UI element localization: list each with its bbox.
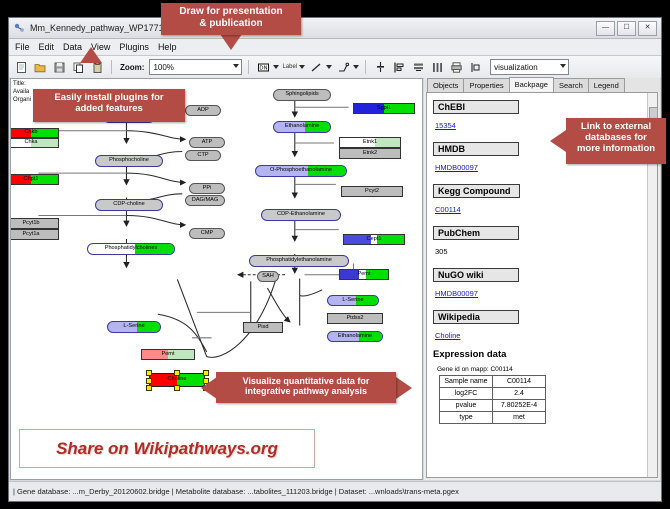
zoom-combo[interactable]: 100% xyxy=(149,59,242,75)
zoom-label: Zoom: xyxy=(120,63,144,72)
interaction-tool[interactable] xyxy=(335,59,359,75)
callout-share: Share on Wikipathways.org xyxy=(19,429,315,468)
gene-pisd[interactable]: Pisd xyxy=(243,322,283,333)
toolbar-separator-2 xyxy=(248,60,249,74)
datanode-icon[interactable]: DN xyxy=(255,59,271,75)
gene-etnk2[interactable]: Etnk2 xyxy=(339,148,401,159)
label-tool[interactable]: Label xyxy=(282,64,305,70)
node-phosphatidylcholines[interactable]: Phosphatidylcholines xyxy=(87,243,175,255)
callout-link-line3: more information xyxy=(566,144,666,155)
node-l-serine-right[interactable]: L-Serine xyxy=(327,295,379,306)
pathvisio-icon xyxy=(13,22,25,34)
chevron-down-icon xyxy=(560,64,566,68)
node-ethanolamine-top[interactable]: Ethanolamine xyxy=(273,121,331,133)
callout-visualize-line2: integrative pathway analysis xyxy=(216,386,396,396)
interaction-icon[interactable] xyxy=(335,59,351,75)
menu-help[interactable]: Help xyxy=(158,42,177,52)
node-cmp[interactable]: CMP xyxy=(189,228,225,239)
resize-handle-nw[interactable] xyxy=(146,370,152,376)
stack-icon[interactable] xyxy=(410,59,426,75)
chevron-down-icon[interactable] xyxy=(273,65,279,69)
node-sah[interactable]: SAH xyxy=(257,271,279,282)
gene-cept1[interactable]: Cept1 xyxy=(343,234,405,245)
line-icon[interactable] xyxy=(308,59,324,75)
chevron-down-icon[interactable] xyxy=(299,65,305,69)
tab-backpage[interactable]: Backpage xyxy=(509,77,554,92)
status-bar: | Gene database: ...m_Derby_20120602.bri… xyxy=(9,481,661,501)
resize-handle-ne[interactable] xyxy=(203,370,209,376)
pathway-info-header: Title: Availa Organi xyxy=(13,80,31,104)
callout-visualize-arrow-right xyxy=(396,377,412,399)
info-availability-label: Availa xyxy=(13,88,31,96)
node-ctp[interactable]: CTP xyxy=(185,150,221,161)
cell-value-log2fc: 2.4 xyxy=(493,388,546,400)
node-phosphatidylethanolamine[interactable]: Phosphatidylethanolamine xyxy=(249,255,349,267)
cell-label-type: type xyxy=(440,412,493,424)
callout-draw-line1: Draw for presentation xyxy=(161,6,301,18)
resize-handle-s[interactable] xyxy=(174,385,180,391)
db-entry-pubchem: PubChem 305 xyxy=(433,223,647,259)
pathvisio-window: Mm_Kennedy_pathway_WP1771_45176.gpml — ☐… xyxy=(8,17,662,502)
window-controls: — ☐ ✕ xyxy=(596,21,657,36)
node-atp[interactable]: ATP xyxy=(189,137,225,148)
callout-link: Link to external databases for more info… xyxy=(566,118,666,164)
db-link-wikipedia[interactable]: Choline xyxy=(435,331,460,340)
node-adp[interactable]: ADP xyxy=(185,105,221,116)
db-header-wikipedia: Wikipedia xyxy=(433,310,519,324)
resize-handle-w[interactable] xyxy=(146,378,152,384)
maximize-button[interactable]: ☐ xyxy=(617,21,636,36)
close-button[interactable]: ✕ xyxy=(638,21,657,36)
info-title-label: Title: xyxy=(13,80,31,88)
svg-text:DN: DN xyxy=(259,65,267,71)
table-row: pvalue 7.80252E-4 xyxy=(440,400,546,412)
layer-icon[interactable] xyxy=(467,59,483,75)
callout-plugins-line2: added features xyxy=(33,104,185,115)
folder-open-icon[interactable] xyxy=(32,59,48,75)
menu-edit[interactable]: Edit xyxy=(39,42,55,52)
line-tool[interactable] xyxy=(308,59,332,75)
align-left-icon[interactable] xyxy=(391,59,407,75)
info-organism-label: Organi xyxy=(13,96,31,104)
db-value-pubchem: 305 xyxy=(435,247,448,256)
tab-search[interactable]: Search xyxy=(553,78,589,92)
callout-share-text: Share on Wikipathways.org xyxy=(56,439,278,459)
align-icon[interactable] xyxy=(372,59,388,75)
chevron-down-icon[interactable] xyxy=(326,65,332,69)
node-o-phosphoethanolamine[interactable]: O-Phosphoethanolamine xyxy=(255,165,347,177)
db-link-nugo[interactable]: HMDB00097 xyxy=(435,289,478,298)
toolbar-separator-1 xyxy=(111,60,112,74)
db-header-chebi: ChEBI xyxy=(433,100,519,114)
gene-chkb[interactable]: Chkb xyxy=(10,128,59,138)
zoom-value: 100% xyxy=(153,63,173,72)
title-bar: Mm_Kennedy_pathway_WP1771_45176.gpml — ☐… xyxy=(9,18,661,39)
menu-file[interactable]: File xyxy=(15,42,30,52)
pathway-canvas[interactable]: Title: Availa Organi xyxy=(10,78,423,480)
status-bar-text: | Gene database: ...m_Derby_20120602.bri… xyxy=(13,487,459,496)
node-dag-mag[interactable]: DAG/MAG xyxy=(185,195,225,206)
gene-id-on-mapp: Gene id on mapp: C00114 xyxy=(437,366,647,373)
db-link-chebi[interactable]: 15354 xyxy=(435,121,456,130)
label-tool-text: Label xyxy=(282,64,297,70)
node-l-serine-left[interactable]: L-Serine xyxy=(107,321,161,333)
callout-visualize: Visualize quantitative data for integrat… xyxy=(216,372,396,403)
side-panel-tabs: Objects Properties Backpage Search Legen… xyxy=(424,78,660,92)
db-header-pubchem: PubChem xyxy=(433,226,519,240)
node-ethanolamine-bottom[interactable]: Ethanolamine xyxy=(327,331,383,342)
node-cdp-choline[interactable]: CDP-choline xyxy=(95,199,163,211)
db-link-hmdb[interactable]: HMDB00097 xyxy=(435,163,478,172)
db-header-hmdb: HMDB xyxy=(433,142,519,156)
cell-value-sample-name: C00114 xyxy=(493,376,546,388)
cell-value-pvalue: 7.80252E-4 xyxy=(493,400,546,412)
tab-properties[interactable]: Properties xyxy=(463,78,509,92)
menu-plugins[interactable]: Plugins xyxy=(119,42,149,52)
visualization-combo[interactable]: visualization xyxy=(490,59,569,75)
db-link-kegg[interactable]: C00114 xyxy=(435,205,461,214)
cell-value-type: met xyxy=(493,412,546,424)
distribute-icon[interactable] xyxy=(429,59,445,75)
gene-pemt-left[interactable]: Pemt xyxy=(141,349,195,360)
callout-plugins: Easily install plugins for added feature… xyxy=(33,89,185,122)
cell-label-pvalue: pvalue xyxy=(440,400,493,412)
table-row: log2FC 2.4 xyxy=(440,388,546,400)
node-phosphocholine[interactable]: Phosphocholine xyxy=(95,155,163,167)
node-choline-selected-wrap[interactable]: Choline xyxy=(149,373,205,387)
callout-link-arrow xyxy=(550,130,566,152)
table-row: type met xyxy=(440,412,546,424)
new-document-icon[interactable] xyxy=(13,59,29,75)
chevron-down-icon[interactable] xyxy=(353,65,359,69)
callout-plugins-arrow xyxy=(80,47,102,63)
db-entry-wikipedia: Wikipedia Choline xyxy=(433,307,647,343)
tab-objects[interactable]: Objects xyxy=(427,78,464,92)
menu-bar: File Edit Data View Plugins Help xyxy=(9,39,661,56)
gene-chpt1[interactable]: Chpt1 xyxy=(10,174,59,185)
printer-icon[interactable] xyxy=(448,59,464,75)
db-entry-kegg: Kegg Compound C00114 xyxy=(433,181,647,217)
datanode-tool[interactable]: DN xyxy=(255,59,279,75)
node-sphingolipids[interactable]: Sphingolipids xyxy=(273,89,331,101)
table-row: Sample name C00114 xyxy=(440,376,546,388)
callout-visualize-arrow-left xyxy=(201,377,217,399)
floppy-disk-icon[interactable] xyxy=(51,59,67,75)
toolbar: Zoom: 100% DN Label xyxy=(9,56,661,79)
expression-data-table: Sample name C00114 log2FC 2.4 pvalue 7.8… xyxy=(439,375,546,424)
visualization-value: visualization xyxy=(494,63,538,72)
callout-draw-arrow xyxy=(220,34,242,50)
tab-legend[interactable]: Legend xyxy=(588,78,625,92)
toolbar-separator-3 xyxy=(365,60,366,74)
chevron-down-icon xyxy=(233,64,239,68)
node-cdp-ethanolamine[interactable]: CDP-Ethanolamine xyxy=(261,209,341,221)
resize-handle-n[interactable] xyxy=(174,370,180,376)
node-ppi[interactable]: PPi xyxy=(189,183,225,194)
db-header-kegg: Kegg Compound xyxy=(433,184,520,198)
minimize-button[interactable]: — xyxy=(596,21,615,36)
gene-chka[interactable]: Chka xyxy=(10,138,59,148)
resize-handle-sw[interactable] xyxy=(146,385,152,391)
cell-label-log2fc: log2FC xyxy=(440,388,493,400)
gene-pcyt1b[interactable]: Pcyt1b xyxy=(10,218,59,229)
cell-label-sample-name: Sample name xyxy=(440,376,493,388)
db-header-nugo: NuGO wiki xyxy=(433,268,519,282)
expression-data-title: Expression data xyxy=(433,349,647,360)
gene-pemt-right[interactable]: Pemt xyxy=(339,269,389,280)
gene-pcyt1a[interactable]: Pcyt1a xyxy=(10,229,59,240)
gene-ptdss2[interactable]: Ptdss2 xyxy=(327,313,383,324)
callout-draw: Draw for presentation & publication xyxy=(161,3,301,35)
callout-visualize-line1: Visualize quantitative data for xyxy=(216,376,396,386)
callout-draw-line2: & publication xyxy=(161,18,301,30)
gene-sgpl1[interactable]: Sgpl1 xyxy=(353,103,415,114)
gene-pcyt2[interactable]: Pcyt2 xyxy=(341,186,403,197)
gene-etnk1[interactable]: Etnk1 xyxy=(339,137,401,148)
db-entry-nugo: NuGO wiki HMDB00097 xyxy=(433,265,647,301)
